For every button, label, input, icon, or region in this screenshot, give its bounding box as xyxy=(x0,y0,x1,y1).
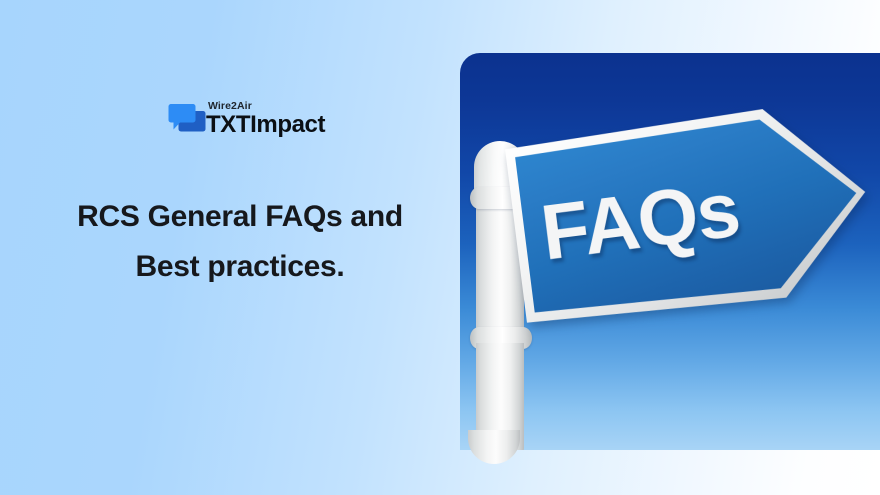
brand-wordmark: Wire2Air TXTImpact xyxy=(206,98,376,144)
faqs-image-card: FAQs xyxy=(460,53,880,450)
faqs-arrow-sign: FAQs xyxy=(504,98,877,331)
left-content-column: Wire2Air TXTImpact RCS General FAQs and … xyxy=(0,0,460,495)
speech-bubbles-icon xyxy=(168,102,206,136)
sign-label: FAQs xyxy=(530,105,822,327)
brand-logo[interactable]: Wire2Air TXTImpact xyxy=(168,98,368,144)
page-title: RCS General FAQs and Best practices. xyxy=(20,192,460,292)
page-title-line-1: RCS General FAQs and xyxy=(20,192,460,242)
page-title-line-2: Best practices. xyxy=(20,242,460,292)
faq-poster: Wire2Air TXTImpact RCS General FAQs and … xyxy=(0,0,880,495)
pole-base-overhang xyxy=(468,430,520,464)
brand-name: TXTImpact xyxy=(206,110,325,139)
